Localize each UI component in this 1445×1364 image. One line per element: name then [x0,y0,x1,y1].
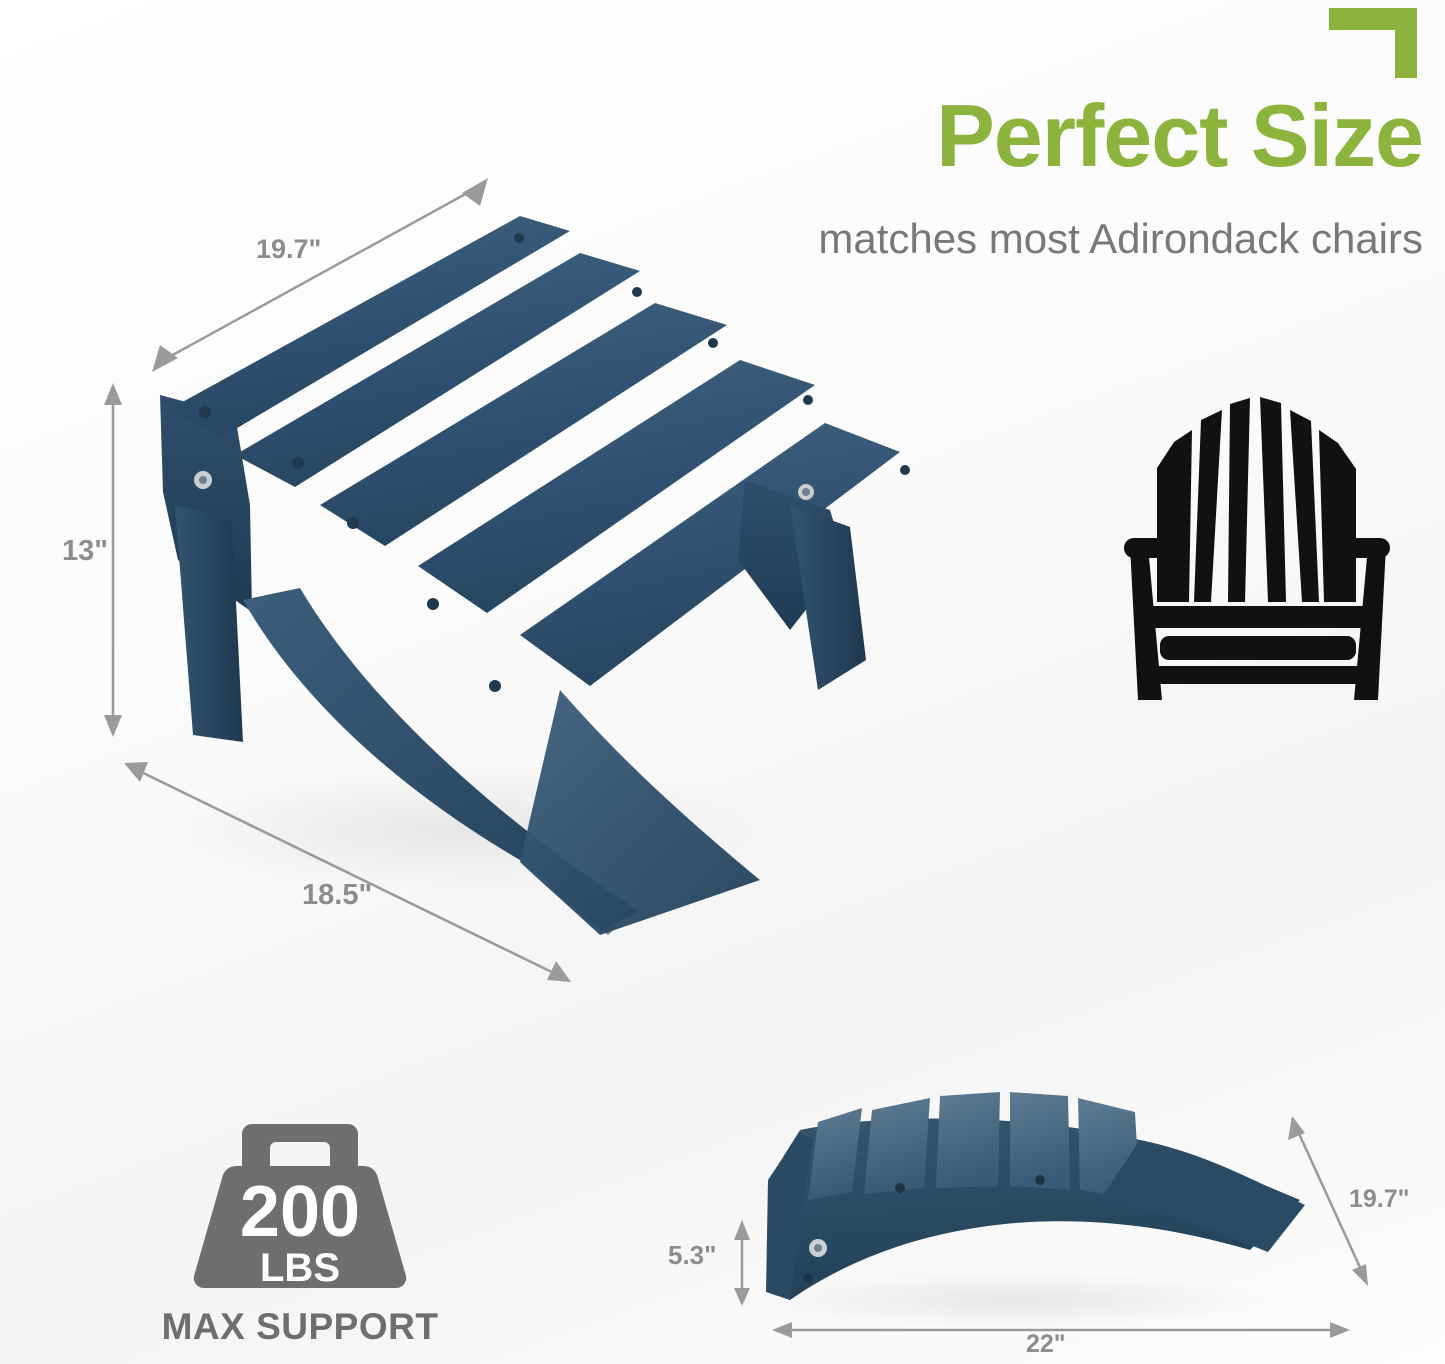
screw-head [514,233,524,243]
ottoman-slat-4 [418,360,815,613]
folded-slat-1 [808,1108,862,1200]
ottoman-slat-2 [235,253,640,487]
dimension-arrowheads-folded [734,1116,1368,1338]
screw-head [632,287,642,297]
dimension-label-folded-length: 22" [1026,1330,1066,1359]
ottoman-curve-shadow [520,862,616,935]
folded-slat-3 [936,1092,1000,1188]
max-support-label: MAX SUPPORT [140,1306,460,1348]
dimension-arrows-folded [742,1127,1363,1330]
ottoman-slat-3 [320,303,727,546]
dimension-arrowheads-main [104,178,571,982]
weight-handle-icon [242,1124,358,1172]
screw-head [708,338,718,348]
screw-head [194,471,212,489]
adirondack-chair-icon [1110,370,1410,750]
screw-head [900,465,910,475]
weight-unit: LBS [260,1246,340,1290]
screw-head [798,484,814,500]
infographic-canvas: Perfect Size matches most Adirondack cha… [0,0,1445,1364]
folded-ottoman-leg [1100,1140,1305,1252]
dimension-label-depth: 18.5" [302,879,372,912]
page-subtitle: matches most Adirondack chairs [818,218,1423,260]
dimension-label-height: 13" [62,535,108,568]
ottoman-slat-5 [520,423,900,686]
ottoman-right-leg [790,505,866,690]
weight-number: 200 [240,1172,360,1252]
corner-bracket-icon [1329,8,1417,78]
folded-ottoman-left-cap [766,1132,812,1300]
chair-silhouette-shape [1124,397,1390,700]
page-title: Perfect Size [936,92,1423,180]
screw-head [199,406,211,418]
folded-slat-5 [1078,1098,1140,1200]
dimension-label-width-top: 19.7" [256,234,321,265]
screw-head [427,598,439,610]
folded-ottoman-body [768,1119,1300,1300]
screw-head [895,1183,905,1193]
screw-head [199,476,207,484]
ottoman-right-rail [738,480,845,630]
weight-capacity-badge: 200 LBS MAX SUPPORT [140,1118,460,1364]
screw-head [489,680,501,692]
folded-slat-4 [1010,1092,1070,1190]
screw-head [1035,1175,1045,1185]
screw-head [292,457,304,469]
ottoman-slat-1 [168,216,570,437]
ottoman-left-leg [175,505,243,742]
screw-head [347,517,359,529]
screw-head [803,395,813,405]
corner-bracket-vertical-bar [1395,8,1417,78]
screw-head [809,1239,827,1257]
dimension-label-folded-height: 5.3" [668,1240,716,1271]
folded-slat-2 [864,1098,930,1194]
screw-head [803,1273,813,1283]
screw-head [802,488,810,496]
ottoman-right-foot [520,690,760,935]
ottoman-left-rail [160,395,252,612]
dimension-arrows-main [113,186,562,977]
screw-head [814,1244,822,1252]
dimension-label-folded-depth: 19.7" [1349,1185,1410,1214]
